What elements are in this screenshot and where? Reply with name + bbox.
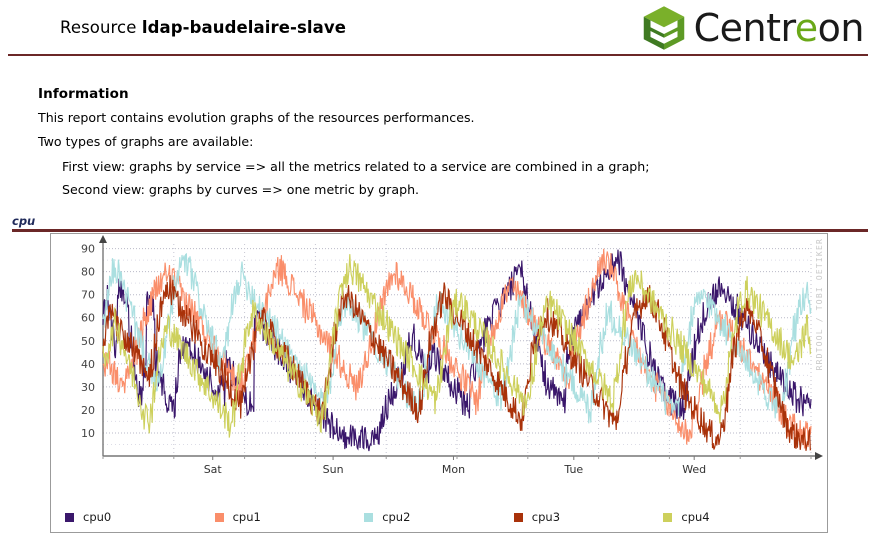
information-block: Information This report contains evoluti… (38, 86, 658, 205)
brand-text-c: C (694, 6, 720, 50)
centreon-logo: Centreon (640, 4, 864, 52)
legend-item-cpu0: cpu0 (65, 510, 215, 524)
legend-swatch-icon (364, 513, 373, 522)
legend-item-cpu4: cpu4 (663, 510, 813, 524)
legend-label: cpu2 (382, 510, 410, 524)
page-title-value: ldap-baudelaire-slave (142, 18, 346, 37)
svg-text:10: 10 (81, 427, 95, 440)
brand-text-e-accent: e (795, 6, 818, 50)
information-heading: Information (38, 86, 658, 102)
information-line-2: Two types of graphs are available: (38, 133, 658, 150)
svg-text:60: 60 (81, 312, 95, 325)
section-label-cpu: cpu (12, 214, 35, 228)
legend-item-cpu2: cpu2 (364, 510, 514, 524)
information-line-3: First view: graphs by service => all the… (62, 158, 658, 175)
legend-swatch-icon (65, 513, 74, 522)
legend-label: cpu1 (233, 510, 261, 524)
svg-text:80: 80 (81, 266, 95, 279)
page-title-label: Resource (60, 18, 136, 37)
brand-text-entr: entr (720, 6, 795, 50)
chart-legend: cpu0 cpu1 cpu2 cpu3 cpu4 (51, 510, 827, 524)
svg-text:50: 50 (81, 335, 95, 348)
header-divider (8, 54, 868, 56)
svg-text:Mon: Mon (442, 463, 465, 476)
cpu-timeseries-chart: 102030405060708090SatSunMonTueWed (51, 234, 827, 492)
section-divider (12, 229, 868, 232)
rrdtool-watermark: RRDTOOL / TOBI OETIKER (815, 238, 824, 370)
legend-label: cpu4 (681, 510, 709, 524)
page-title: Resource ldap-baudelaire-slave (60, 18, 346, 37)
cpu-graph-panel: 102030405060708090SatSunMonTueWed RRDTOO… (50, 233, 828, 533)
brand-text-on: on (818, 6, 864, 50)
svg-text:Tue: Tue (563, 463, 583, 476)
svg-text:70: 70 (81, 289, 95, 302)
svg-text:20: 20 (81, 404, 95, 417)
svg-text:90: 90 (81, 243, 95, 256)
svg-text:Sat: Sat (204, 463, 223, 476)
svg-text:Sun: Sun (323, 463, 344, 476)
legend-label: cpu3 (532, 510, 560, 524)
legend-swatch-icon (663, 513, 672, 522)
legend-item-cpu3: cpu3 (514, 510, 664, 524)
page-header: Resource ldap-baudelaire-slave Centreon (0, 0, 876, 56)
centreon-cube-icon (640, 4, 688, 52)
information-line-4: Second view: graphs by curves => one met… (62, 181, 658, 198)
legend-item-cpu1: cpu1 (215, 510, 365, 524)
svg-text:40: 40 (81, 358, 95, 371)
legend-label: cpu0 (83, 510, 111, 524)
svg-text:Wed: Wed (682, 463, 706, 476)
legend-swatch-icon (215, 513, 224, 522)
centreon-wordmark: Centreon (694, 9, 864, 47)
legend-swatch-icon (514, 513, 523, 522)
information-line-1: This report contains evolution graphs of… (38, 109, 658, 126)
svg-text:30: 30 (81, 381, 95, 394)
